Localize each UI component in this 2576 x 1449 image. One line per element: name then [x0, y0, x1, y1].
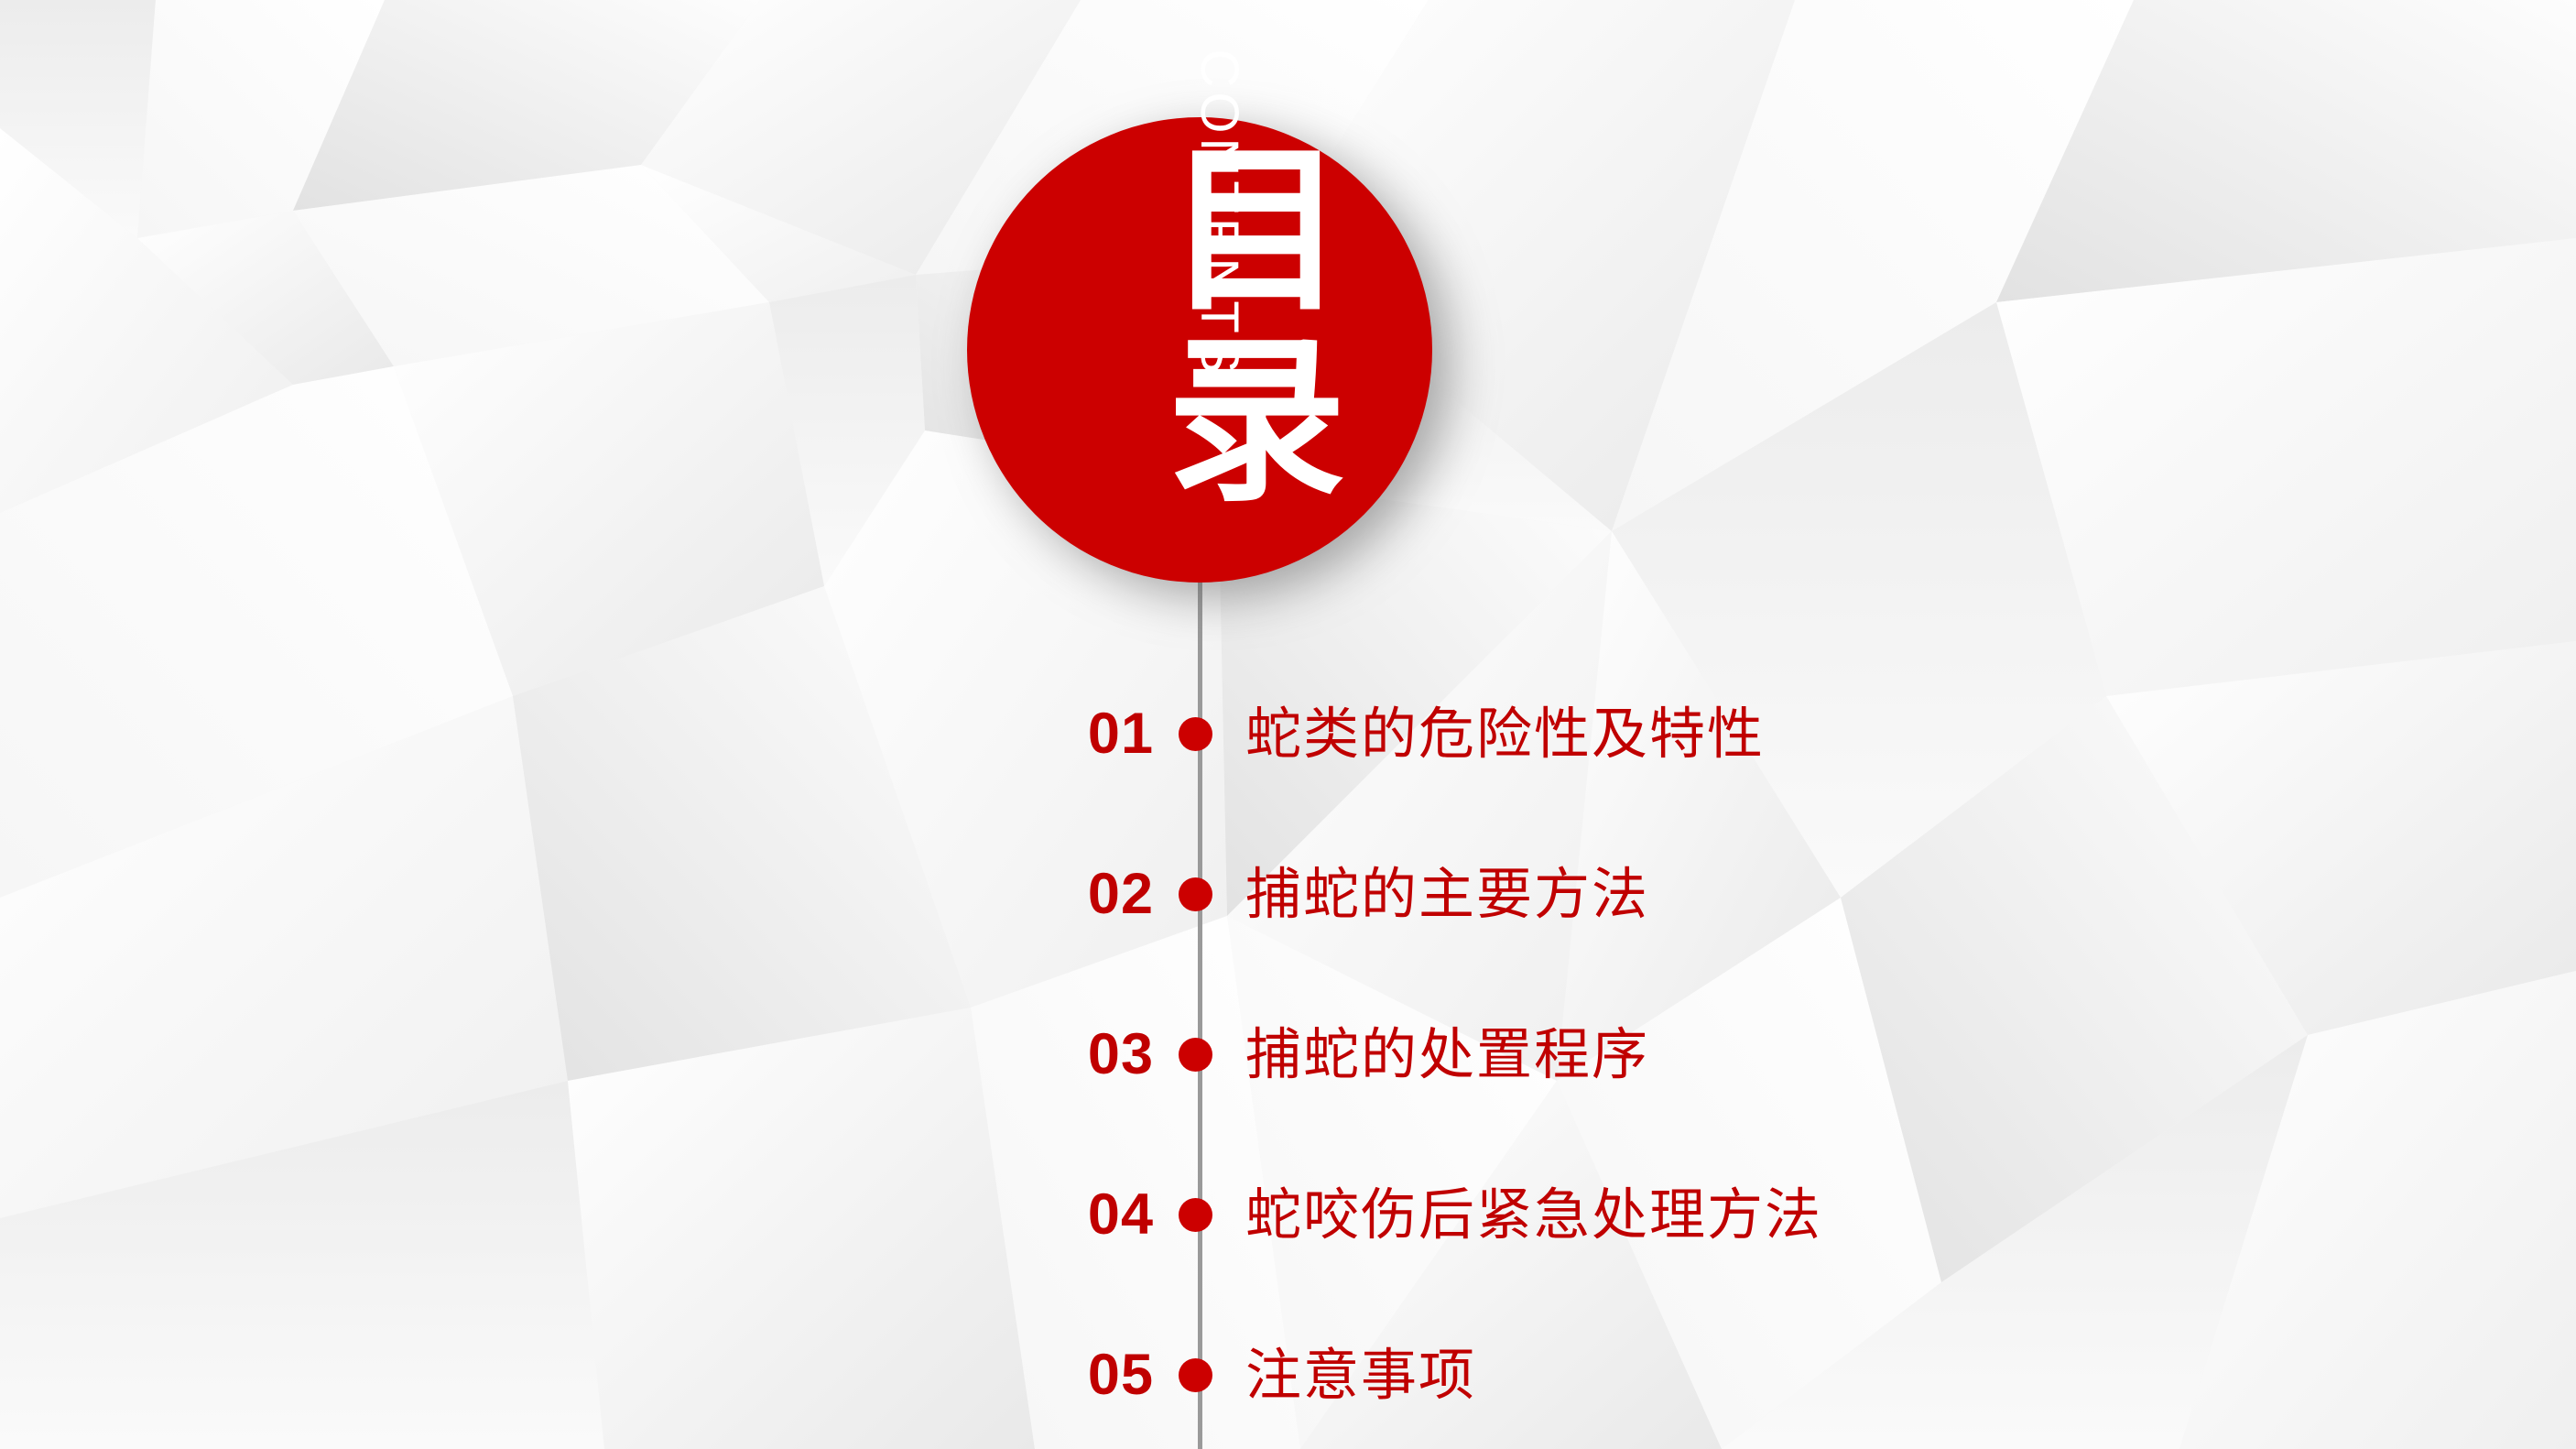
slide-canvas: CONTENTS 目 录 01 蛇类的危险性及特性 02 捕蛇的主要方法 03: [0, 0, 2576, 1449]
toc-bullet-cell: [1154, 877, 1236, 911]
list-item[interactable]: 02 捕蛇的主要方法: [1053, 814, 2335, 975]
toc-number: 05: [1053, 1346, 1154, 1404]
toc-bullet-cell: [1154, 717, 1236, 751]
toc-bullet-cell: [1154, 1358, 1236, 1392]
toc-bullet-cell: [1154, 1038, 1236, 1072]
toc-label[interactable]: 捕蛇的主要方法: [1245, 864, 1649, 925]
badge-chinese-char-1: 目: [1167, 137, 1346, 328]
contents-badge[interactable]: CONTENTS 目 录: [967, 117, 1432, 583]
bullet-dot-icon: [1179, 877, 1212, 911]
toc-label[interactable]: 捕蛇的处置程序: [1245, 1024, 1649, 1085]
bullet-dot-icon: [1179, 717, 1212, 751]
toc-label[interactable]: 蛇咬伤后紧急处理方法: [1245, 1184, 1822, 1246]
badge-chinese-char-2: 录: [1167, 328, 1346, 518]
toc-number: 01: [1053, 705, 1154, 763]
toc-label[interactable]: 蛇类的危险性及特性: [1245, 703, 1765, 765]
toc-label[interactable]: 注意事项: [1245, 1345, 1476, 1406]
contents-list: 01 蛇类的危险性及特性 02 捕蛇的主要方法 03 捕蛇的处置程序 04: [1053, 654, 2335, 1449]
bullet-dot-icon: [1179, 1358, 1212, 1392]
list-item[interactable]: 01 蛇类的危险性及特性: [1053, 654, 2335, 814]
bullet-dot-icon: [1179, 1038, 1212, 1072]
list-item[interactable]: 05 注意事项: [1053, 1295, 2335, 1449]
toc-number: 02: [1053, 866, 1154, 923]
list-item[interactable]: 03 捕蛇的处置程序: [1053, 975, 2335, 1135]
toc-bullet-cell: [1154, 1198, 1236, 1232]
bullet-dot-icon: [1179, 1198, 1212, 1232]
list-item[interactable]: 04 蛇咬伤后紧急处理方法: [1053, 1135, 2335, 1295]
toc-number: 03: [1053, 1026, 1154, 1084]
badge-chinese-title: 目 录: [1167, 137, 1386, 568]
toc-number: 04: [1053, 1186, 1154, 1244]
